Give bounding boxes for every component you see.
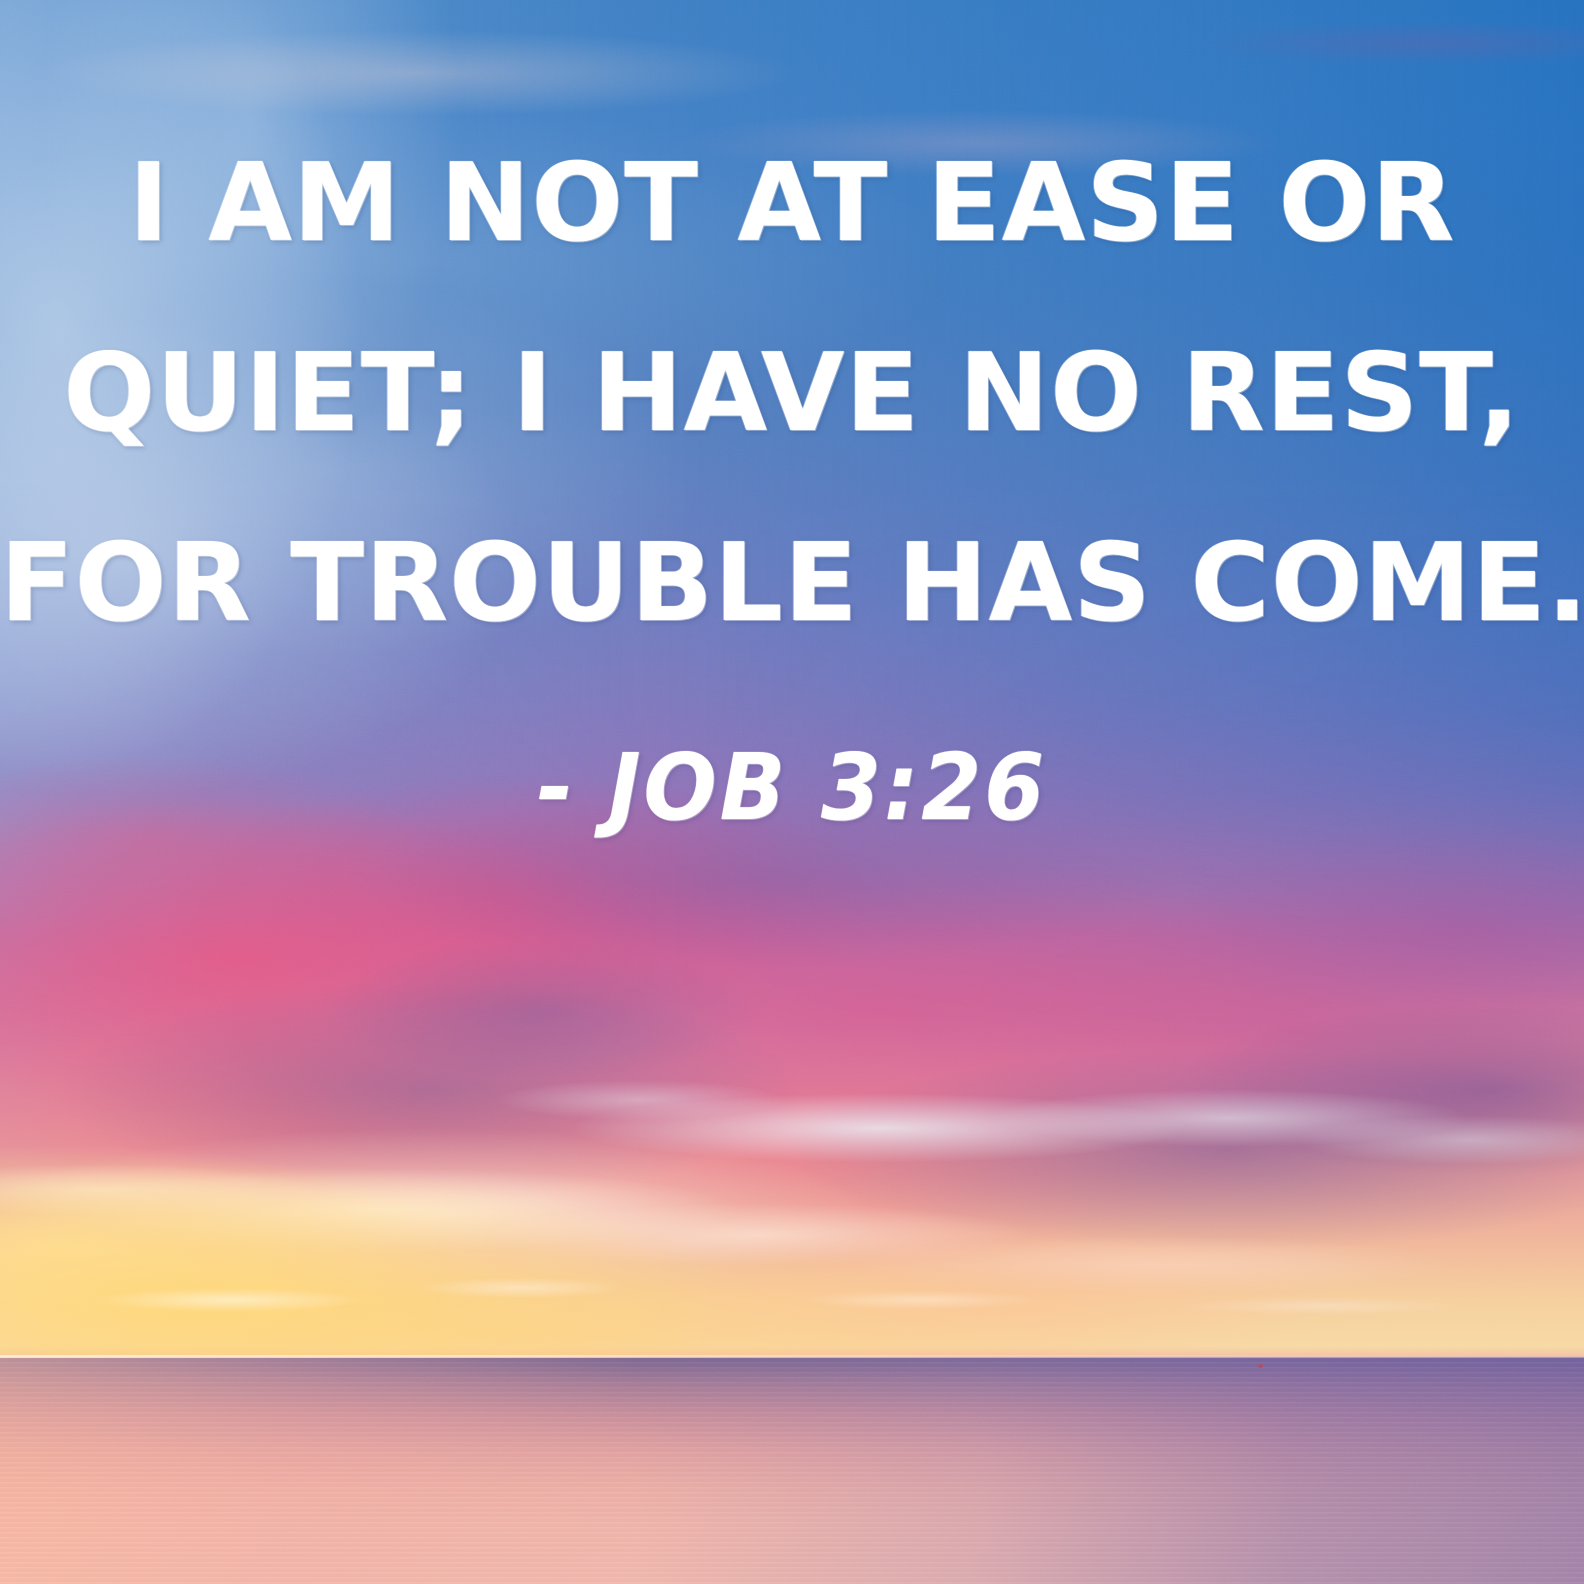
sea-ripple-texture [0, 1357, 1584, 1584]
sea-surface [0, 1357, 1584, 1584]
horizon-line [0, 1355, 1584, 1358]
distant-buoy-speck [1258, 1364, 1263, 1368]
verse-line: I AM NOT AT EASE OR [0, 150, 1584, 258]
verse-line: QUIET; I HAVE NO REST, [0, 340, 1584, 448]
verse-line-2-text: QUIET; I HAVE NO REST, [63, 331, 1520, 456]
verse-line-3-text: FOR TROUBLE HAS COME.” [0, 521, 1584, 646]
verse-line-1-text: I AM NOT AT EASE OR [129, 141, 1456, 266]
verse-image-canvas: I AM NOT AT EASE OR QUIET; I HAVE NO RES… [0, 0, 1584, 1584]
verse-line: FOR TROUBLE HAS COME.” [0, 530, 1584, 638]
verse-attribution: - JOB 3:26 [49, 742, 1535, 834]
